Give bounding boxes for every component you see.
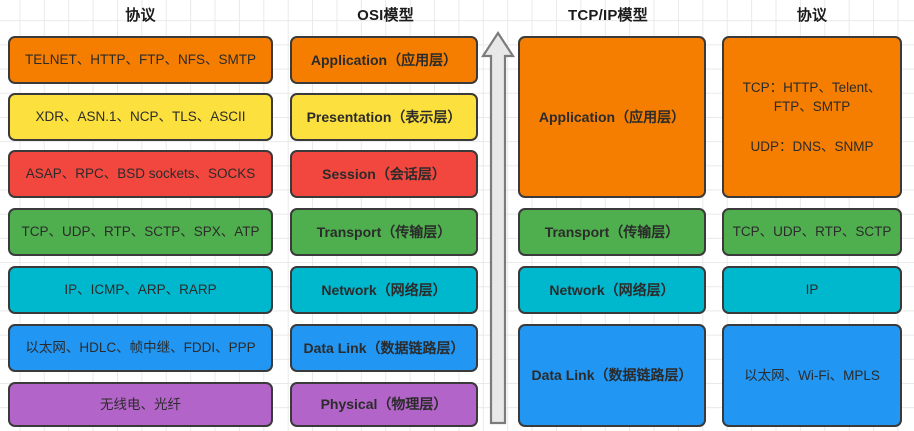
protocol-box-transport-left[interactable]: TCP、UDP、RTP、SCTP、SPX、ATP	[8, 208, 273, 256]
osi-layer-application-label: Application（应用层）	[298, 50, 470, 70]
protocol-box-application-left[interactable]: TELNET、HTTP、FTP、NFS、SMTP	[8, 36, 273, 84]
tcpip-layer-network-label: Network（网络层）	[526, 280, 698, 300]
osi-layer-transport-label: Transport（传输层）	[298, 222, 470, 242]
osi-layer-presentation[interactable]: Presentation（表示层）	[290, 93, 478, 141]
column-header-protocols-right: 协议	[722, 6, 902, 26]
protocol-box-physical-left-label: 无线电、光纤	[16, 395, 265, 415]
protocol-box-transport-left-label: TCP、UDP、RTP、SCTP、SPX、ATP	[16, 222, 265, 242]
column-header-osi-model: OSI模型	[288, 6, 483, 26]
tcpip-layer-transport-label: Transport（传输层）	[526, 222, 698, 242]
protocol-box-application-right-label: TCP：HTTP、Telent、 FTP、SMTP UDP：DNS、SNMP	[730, 78, 894, 156]
column-header-protocols-left: 协议	[8, 6, 273, 26]
protocol-box-transport-right[interactable]: TCP、UDP、RTP、SCTP	[722, 208, 902, 256]
tcpip-layer-datalink[interactable]: Data Link（数据链路层）	[518, 324, 706, 427]
column-header-tcpip-model: TCP/IP模型	[518, 6, 698, 26]
osi-layer-transport[interactable]: Transport（传输层）	[290, 208, 478, 256]
protocol-box-datalink-left[interactable]: 以太网、HDLC、帧中继、FDDI、PPP	[8, 324, 273, 372]
protocol-box-session-left-label: ASAP、RPC、BSD sockets、SOCKS	[16, 164, 265, 184]
protocol-box-physical-left[interactable]: 无线电、光纤	[8, 382, 273, 427]
tcpip-layer-application[interactable]: Application（应用层）	[518, 36, 706, 198]
osi-layer-physical-label: Physical（物理层）	[298, 394, 470, 414]
protocol-box-transport-right-label: TCP、UDP、RTP、SCTP	[730, 222, 894, 242]
tcpip-layer-network[interactable]: Network（网络层）	[518, 266, 706, 314]
osi-layer-physical[interactable]: Physical（物理层）	[290, 382, 478, 427]
tcpip-layer-datalink-label: Data Link（数据链路层）	[526, 365, 698, 385]
protocol-box-datalink-right-label: 以太网、Wi-Fi、MPLS	[730, 366, 894, 386]
upward-direction-arrow	[480, 30, 516, 426]
osi-layer-network[interactable]: Network（网络层）	[290, 266, 478, 314]
protocol-box-application-left-label: TELNET、HTTP、FTP、NFS、SMTP	[16, 50, 265, 70]
protocol-stack-diagram: 协议 OSI模型 TCP/IP模型 协议 TELNET、HTTP、FTP、NFS…	[0, 0, 914, 431]
osi-layer-presentation-label: Presentation（表示层）	[298, 107, 470, 127]
protocol-box-session-left[interactable]: ASAP、RPC、BSD sockets、SOCKS	[8, 150, 273, 198]
osi-layer-datalink-label: Data Link（数据链路层）	[298, 338, 470, 358]
osi-layer-session-label: Session（会话层）	[298, 164, 470, 184]
osi-layer-session[interactable]: Session（会话层）	[290, 150, 478, 198]
protocol-box-network-left-label: IP、ICMP、ARP、RARP	[16, 280, 265, 300]
protocol-box-network-right-label: IP	[730, 280, 894, 300]
osi-layer-network-label: Network（网络层）	[298, 280, 470, 300]
protocol-box-application-right[interactable]: TCP：HTTP、Telent、 FTP、SMTP UDP：DNS、SNMP	[722, 36, 902, 198]
osi-layer-datalink[interactable]: Data Link（数据链路层）	[290, 324, 478, 372]
protocol-box-network-left[interactable]: IP、ICMP、ARP、RARP	[8, 266, 273, 314]
osi-layer-application[interactable]: Application（应用层）	[290, 36, 478, 84]
tcpip-layer-application-label: Application（应用层）	[526, 107, 698, 127]
protocol-box-presentation-left-label: XDR、ASN.1、NCP、TLS、ASCII	[16, 107, 265, 127]
protocol-box-datalink-right[interactable]: 以太网、Wi-Fi、MPLS	[722, 324, 902, 427]
protocol-box-presentation-left[interactable]: XDR、ASN.1、NCP、TLS、ASCII	[8, 93, 273, 141]
protocol-box-network-right[interactable]: IP	[722, 266, 902, 314]
protocol-box-datalink-left-label: 以太网、HDLC、帧中继、FDDI、PPP	[16, 338, 265, 358]
tcpip-layer-transport[interactable]: Transport（传输层）	[518, 208, 706, 256]
